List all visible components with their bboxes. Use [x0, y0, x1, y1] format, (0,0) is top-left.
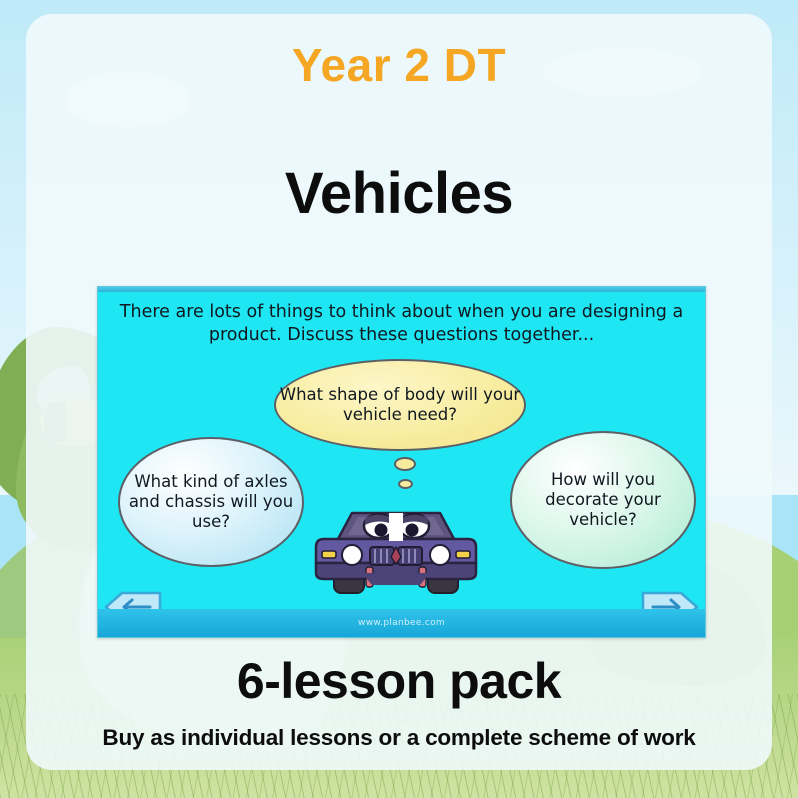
car-illustration-icon	[310, 505, 482, 601]
slide-preview[interactable]: There are lots of things to think about …	[97, 286, 706, 638]
thought-bubble-dot	[394, 457, 416, 471]
thought-bubble-decorate: How will you decorate your vehicle?	[510, 431, 696, 569]
pack-subtitle: Buy as individual lessons or a complete …	[0, 725, 798, 751]
page-root: Year 2 DT Vehicles There are lots of thi…	[0, 0, 798, 798]
kicker-subject: Year 2 DT	[0, 38, 798, 92]
slide-intro-text: There are lots of things to think about …	[112, 301, 691, 347]
thought-bubble-shape: What shape of body will your vehicle nee…	[274, 359, 526, 451]
thought-bubble-axles: What kind of axles and chassis will you …	[118, 437, 304, 567]
pack-title: 6-lesson pack	[0, 652, 798, 710]
thought-bubble-dot	[398, 479, 413, 489]
slide-top-border	[98, 287, 705, 292]
page-title: Vehicles	[0, 160, 798, 227]
website-url: www.planbee.com	[358, 618, 445, 628]
slide-footer-bar: www.planbee.com	[98, 609, 705, 637]
